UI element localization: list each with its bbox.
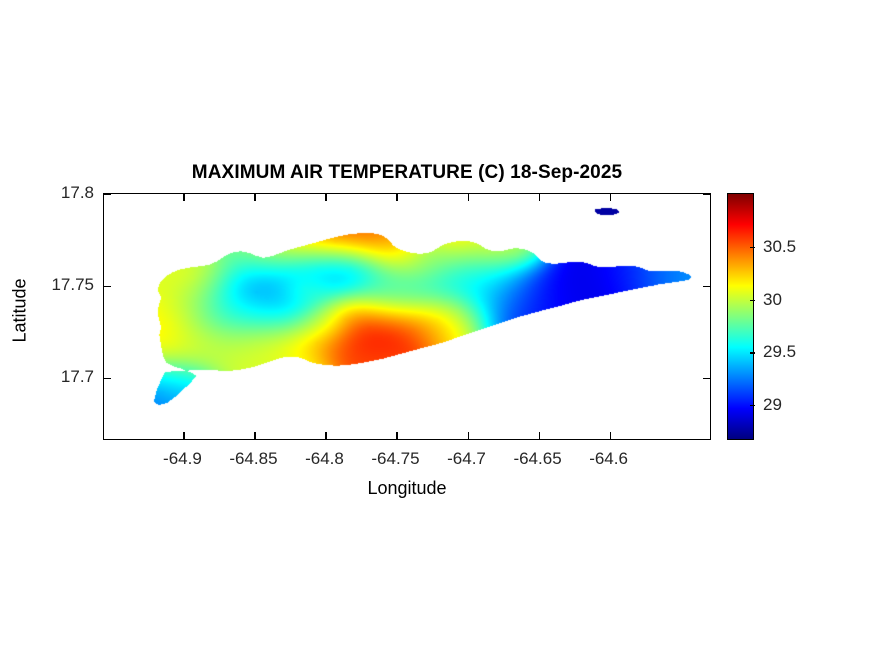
x-tick-label: -64.85 [229,449,277,469]
temperature-heatmap [104,194,711,440]
x-tick-label: -64.9 [163,449,202,469]
colorbar-tick-mark [750,352,755,353]
y-tick-mark-right [703,378,710,379]
x-tick-mark-top [610,194,611,201]
x-tick-label: -64.6 [589,449,628,469]
x-tick-mark-top [396,194,397,201]
x-tick-mark-top [183,194,184,201]
colorbar-tick-label: 30.5 [763,237,796,257]
y-tick-mark-right [703,286,710,287]
y-tick-label: 17.75 [20,275,94,295]
colorbar-tick-mark [750,300,755,301]
x-tick-mark-top [539,194,540,201]
x-tick-mark [325,432,326,439]
x-tick-label: -64.7 [447,449,486,469]
colorbar-tick-label: 29.5 [763,342,796,362]
colorbar-gradient [727,193,754,440]
y-tick-mark [104,194,111,195]
chart-title: MAXIMUM AIR TEMPERATURE (C) 18-Sep-2025 [103,162,711,184]
figure-window: MAXIMUM AIR TEMPERATURE (C) 18-Sep-2025 … [0,0,875,656]
y-tick-mark [104,286,111,287]
x-tick-mark-top [325,194,326,201]
x-tick-mark [468,432,469,439]
plot-area [103,193,711,440]
x-tick-mark [254,432,255,439]
y-tick-mark [104,378,111,379]
x-tick-label: -64.75 [371,449,419,469]
colorbar-tick-label: 30 [763,290,782,310]
x-tick-mark-top [254,194,255,201]
x-axis-label: Longitude [103,478,711,499]
x-tick-label: -64.65 [513,449,561,469]
y-tick-label: 17.8 [20,183,94,203]
x-tick-mark [183,432,184,439]
colorbar-tick-label: 29 [763,395,782,415]
y-axis-label: Latitude [10,261,31,361]
x-tick-mark-top [468,194,469,201]
x-tick-mark [539,432,540,439]
colorbar-tick-mark [750,405,755,406]
x-tick-label: -64.8 [305,449,344,469]
x-tick-mark [610,432,611,439]
colorbar-tick-mark [750,247,755,248]
x-tick-mark [396,432,397,439]
y-tick-mark-right [703,194,710,195]
colorbar: 30.53029.529 [727,193,754,440]
y-tick-label: 17.7 [20,367,94,387]
